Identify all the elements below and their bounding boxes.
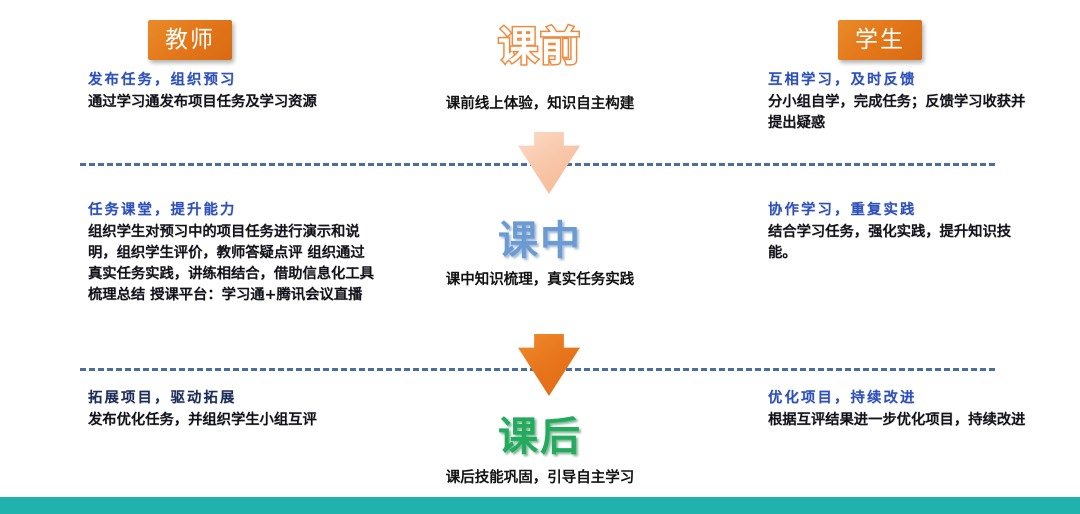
stage-mid-teacher-block: 任务课堂，提升能力 组织学生对预习中的项目任务进行演示和说明，组织学生评价，教师… [88, 200, 378, 306]
stage-mid-teacher-heading: 任务课堂，提升能力 [88, 200, 378, 221]
slide-canvas: 教师 学生 课前 课前线上体验，知识自主构建 发布任务，组织预习 通过学习通发布… [0, 0, 1080, 497]
stage-post-student-heading: 优化项目，持续改进 [768, 388, 1038, 409]
stage-pre-teacher-block: 发布任务，组织预习 通过学习通发布项目任务及学习资源 [88, 70, 378, 113]
stage-post-teacher-block: 拓展项目，驱动拓展 发布优化任务，并组织学生小组互评 [88, 388, 378, 431]
stage-caption-mid: 课中知识梳理，真实任务实践 [360, 268, 720, 289]
stage-caption-post: 课后技能巩固，引导自主学习 [360, 466, 720, 487]
stage-mid-student-heading: 协作学习，重复实践 [768, 200, 1038, 221]
stage-mid-student-block: 协作学习，重复实践 结合学习任务，强化实践，提升知识技能。 [768, 200, 1038, 264]
stage-pre-teacher-heading: 发布任务，组织预习 [88, 70, 378, 91]
stage-title-mid: 课中 [380, 208, 700, 266]
arrow-mid-to-post-icon [518, 334, 580, 396]
stage-pre-student-block: 互相学习，及时反馈 分小组自学，完成任务；反馈学习收获并提出疑惑 [768, 70, 1038, 134]
badge-student: 学生 [838, 20, 922, 60]
stage-caption-pre: 课前线上体验，知识自主构建 [360, 92, 720, 113]
stage-pre-student-body: 分小组自学，完成任务；反馈学习收获并提出疑惑 [768, 92, 1038, 134]
stage-title-post: 课后 [380, 404, 700, 462]
stage-post-teacher-body: 发布优化任务，并组织学生小组互评 [88, 410, 378, 431]
stage-post-teacher-heading: 拓展项目，驱动拓展 [88, 388, 378, 409]
badge-teacher: 教师 [148, 20, 232, 60]
bottom-accent-bar [0, 497, 1080, 514]
stage-post-student-body: 根据互评结果进一步优化项目，持续改进 [768, 410, 1038, 431]
stage-pre-teacher-body: 通过学习通发布项目任务及学习资源 [88, 92, 378, 113]
stage-mid-student-body: 结合学习任务，强化实践，提升知识技能。 [768, 222, 1038, 264]
stage-post-student-block: 优化项目，持续改进 根据互评结果进一步优化项目，持续改进 [768, 388, 1038, 431]
stage-mid-teacher-body: 组织学生对预习中的项目任务进行演示和说明，组织学生评价，教师答疑点评 组织通过真… [88, 222, 378, 306]
stage-title-pre: 课前 [380, 14, 700, 72]
stage-pre-student-heading: 互相学习，及时反馈 [768, 70, 1038, 91]
